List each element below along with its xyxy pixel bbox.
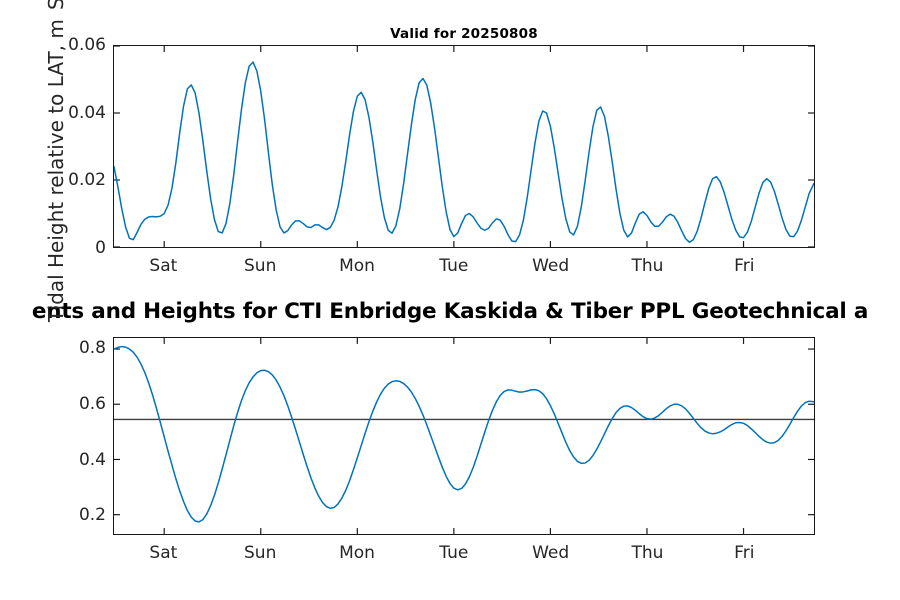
x-tick-label: Mon [339, 543, 375, 563]
tidal-height-line-chart [114, 338, 814, 534]
x-tick-label: Mon [339, 256, 375, 276]
y-axis-label-tidal-height: Tidal Height relative to LAT, m [44, 19, 68, 322]
current-speed-line-chart [114, 46, 814, 247]
y-tick-label: 0.8 [0, 338, 106, 358]
plot-area-current-speed [113, 45, 815, 248]
x-tick-label: Fri [734, 543, 754, 563]
x-tick-label: Sun [244, 256, 276, 276]
figure-canvas: Valid for 20250808 Surface tidal current… [0, 0, 900, 600]
x-tick-label: Thu [632, 256, 664, 276]
figure-suptitle: ents and Heights for CTI Enbridge Kaskid… [32, 299, 868, 324]
x-tick-label: Wed [532, 543, 569, 563]
y-tick-label: 0.4 [0, 450, 106, 470]
y-tick-label: 0.2 [0, 505, 106, 525]
series-line-0 [114, 347, 814, 522]
x-tick-label: Tue [439, 256, 468, 276]
x-tick-label: Sat [149, 256, 177, 276]
chart-title: Valid for 20250808 [113, 26, 815, 42]
y-tick-label: 0.6 [0, 394, 106, 414]
plot-area-tidal-height [113, 337, 815, 535]
x-tick-label: Sun [244, 543, 276, 563]
x-tick-label: Thu [632, 543, 664, 563]
x-tick-label: Tue [439, 543, 468, 563]
x-tick-label: Fri [734, 256, 754, 276]
y-axis-label-current-speed: Surface tidal current speed, kn [44, 0, 68, 10]
x-tick-label: Wed [532, 256, 569, 276]
x-tick-label: Sat [149, 543, 177, 563]
series-line-0 [114, 62, 814, 242]
